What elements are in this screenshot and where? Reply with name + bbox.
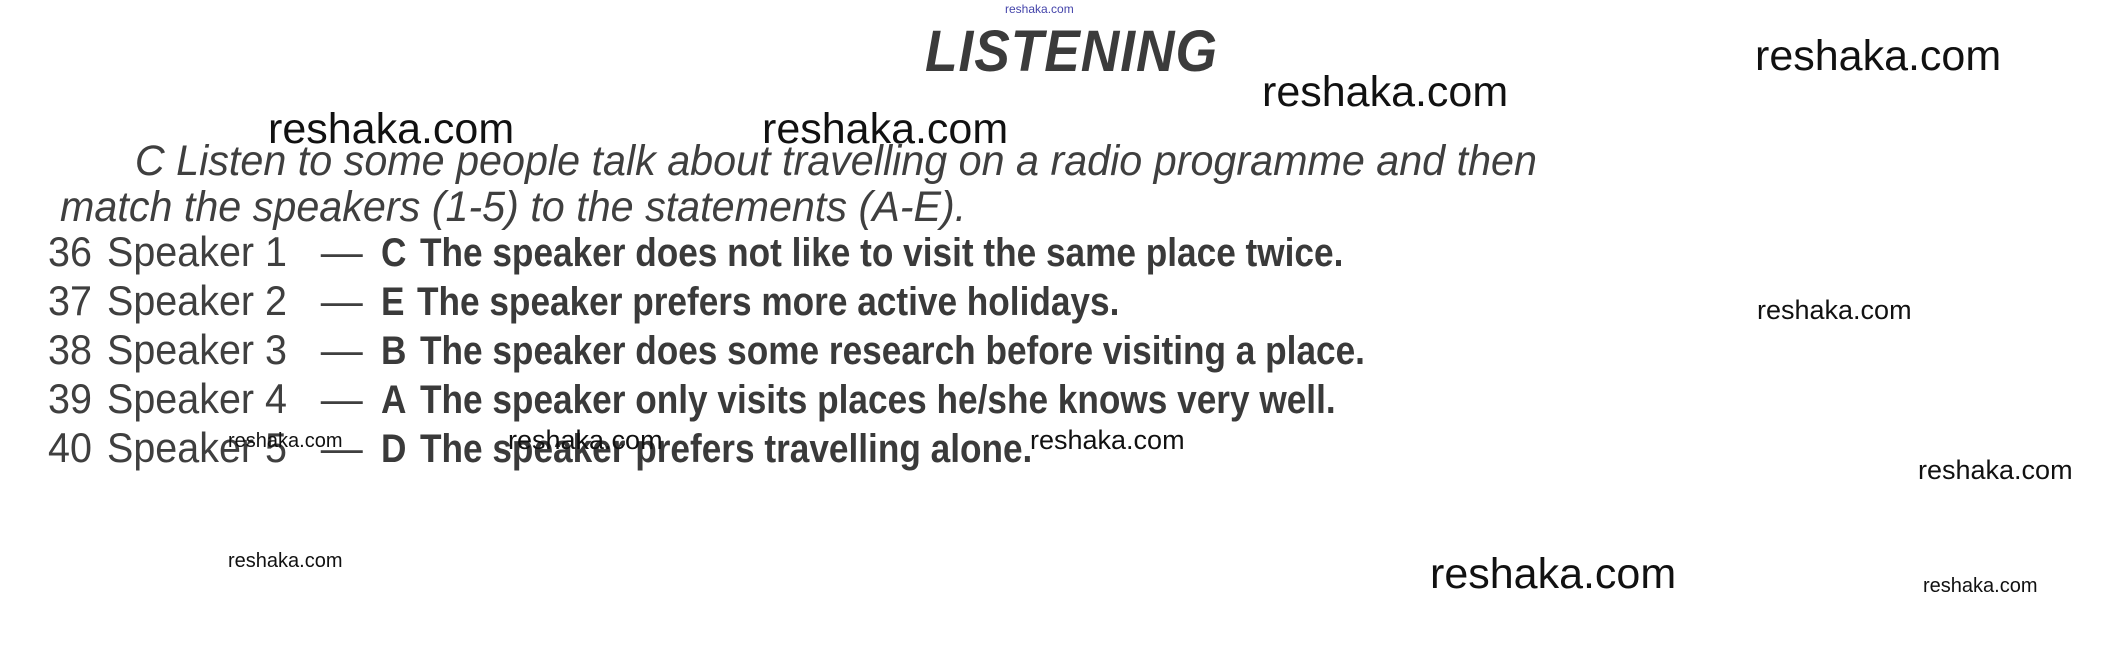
watermark: reshaka.com [1262, 68, 1508, 117]
row-number: 40 [48, 424, 92, 472]
row-dash-icon: — [321, 228, 363, 276]
watermark: reshaka.com [1918, 455, 2073, 486]
row-number: 37 [48, 277, 92, 325]
watermark: reshaka.com [1430, 550, 1676, 599]
row-number: 39 [48, 375, 92, 423]
row-answer[interactable]: B [381, 329, 406, 374]
row-dash-icon: — [321, 326, 363, 374]
table-row: 36 Speaker 1 — C The speaker does not li… [48, 228, 2108, 277]
row-speaker: Speaker 4 [107, 375, 303, 423]
row-statement: The speaker only visits places he/she kn… [420, 378, 1336, 423]
watermark: reshaka.com [1030, 425, 1185, 456]
row-speaker: Speaker 2 [107, 277, 303, 325]
row-speaker: Speaker 3 [107, 326, 303, 374]
worksheet-page: LISTENING C Listen to some people talk a… [0, 0, 2122, 667]
row-statement: The speaker does some research before vi… [420, 329, 1365, 374]
watermark: reshaka.com [508, 425, 663, 456]
row-dash-icon: — [321, 375, 363, 423]
watermark: reshaka.com [1755, 32, 2001, 81]
watermark: reshaka.com [762, 105, 1008, 154]
table-row: 39 Speaker 4 — A The speaker only visits… [48, 375, 2108, 424]
table-row: 38 Speaker 3 — B The speaker does some r… [48, 326, 2108, 375]
row-answer[interactable]: C [381, 231, 406, 276]
watermark: reshaka.com [268, 105, 514, 154]
row-answer[interactable]: E [381, 280, 404, 325]
row-number: 36 [48, 228, 92, 276]
row-statement: The speaker does not like to visit the s… [420, 231, 1343, 276]
row-speaker: Speaker 1 [107, 228, 303, 276]
row-statement: The speaker prefers more active holidays… [417, 280, 1119, 325]
row-dash-icon: — [321, 277, 363, 325]
instruction-line-2: match the speakers (1-5) to the statemen… [60, 183, 966, 231]
row-number: 38 [48, 326, 92, 374]
watermark: reshaka.com [1005, 2, 1074, 16]
page-title: LISTENING [925, 18, 1218, 85]
watermark: reshaka.com [228, 550, 343, 573]
watermark: reshaka.com [228, 430, 343, 453]
watermark: reshaka.com [1923, 575, 2038, 598]
row-answer[interactable]: D [381, 427, 406, 472]
watermark: reshaka.com [1757, 295, 1912, 326]
row-answer[interactable]: A [381, 378, 406, 423]
